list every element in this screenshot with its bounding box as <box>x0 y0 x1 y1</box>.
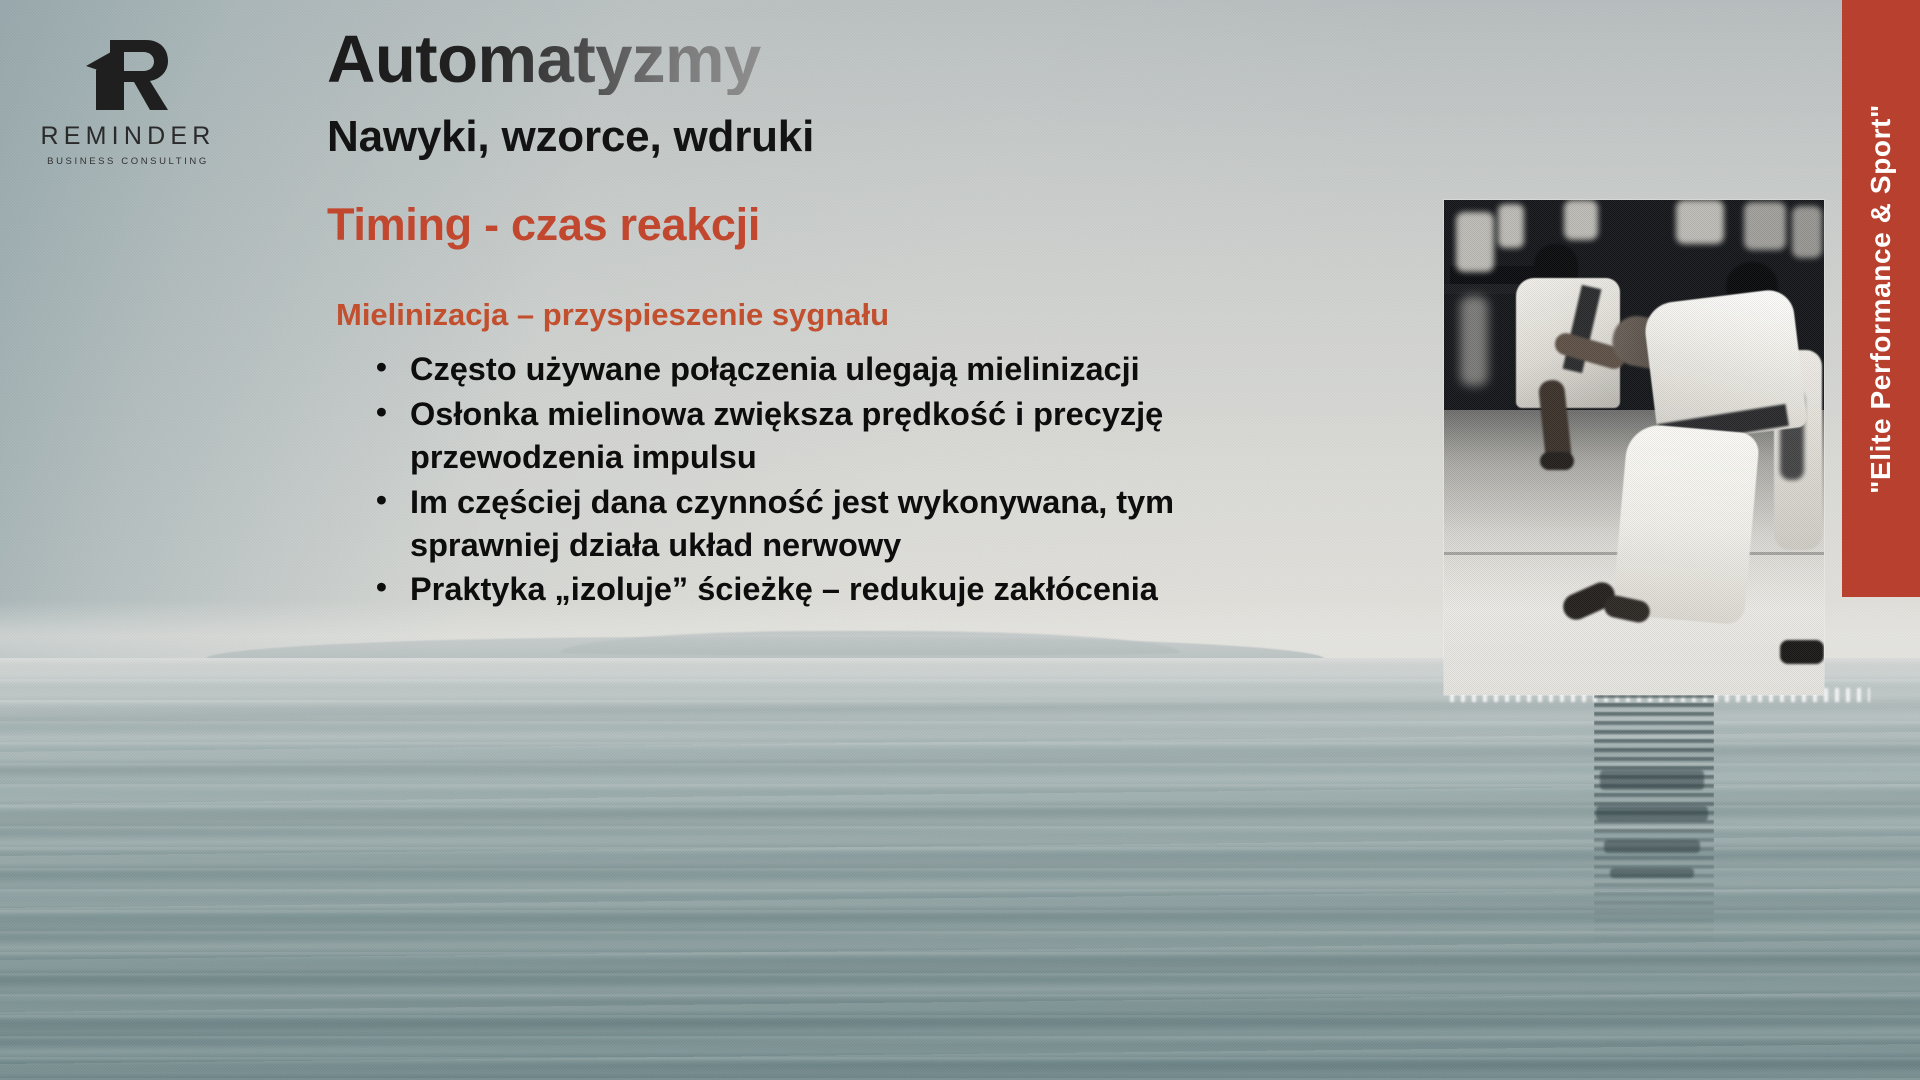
reminder-logo: REMINDER BUSINESS CONSULTING <box>28 34 228 174</box>
slide-canvas: REMINDER BUSINESS CONSULTING Automatyzmy… <box>0 0 1920 1080</box>
logo-wordmark: REMINDER <box>28 122 228 151</box>
side-banner-label: "Elite Performance & Sport" <box>1865 104 1897 494</box>
page-subtitle: Nawyki, wzorce, wdruki <box>327 113 814 161</box>
page-title: Automatyzmy <box>327 25 761 95</box>
side-banner: "Elite Performance & Sport" <box>1842 0 1920 597</box>
list-item: Osłonka mielinowa zwiększa prędkość i pr… <box>368 393 1313 479</box>
list-item: Praktyka „izoluje” ścieżkę – redukuje za… <box>368 568 1313 611</box>
background-reflection-blob <box>1610 868 1694 878</box>
list-item: Często używane połączenia ulegają mielin… <box>368 348 1313 391</box>
stylized-r-logo-icon <box>84 36 170 114</box>
background-reflection-blob <box>1600 770 1704 790</box>
topic-heading: Timing - czas reakcji <box>327 200 760 250</box>
logo-tagline: BUSINESS CONSULTING <box>28 156 228 167</box>
karate-photo <box>1444 200 1824 695</box>
karate-photo-content <box>1444 200 1824 695</box>
section-heading: Mielinizacja – przyspieszenie sygnału <box>336 298 889 332</box>
bullet-list: Często używane połączenia ulegają mielin… <box>368 348 1313 613</box>
list-item: Im częściej dana czynność jest wykonywan… <box>368 481 1313 567</box>
photo-grain-overlay <box>1444 200 1824 695</box>
background-reflection-blob <box>1596 806 1708 821</box>
background-reflection-blob <box>1604 840 1700 853</box>
